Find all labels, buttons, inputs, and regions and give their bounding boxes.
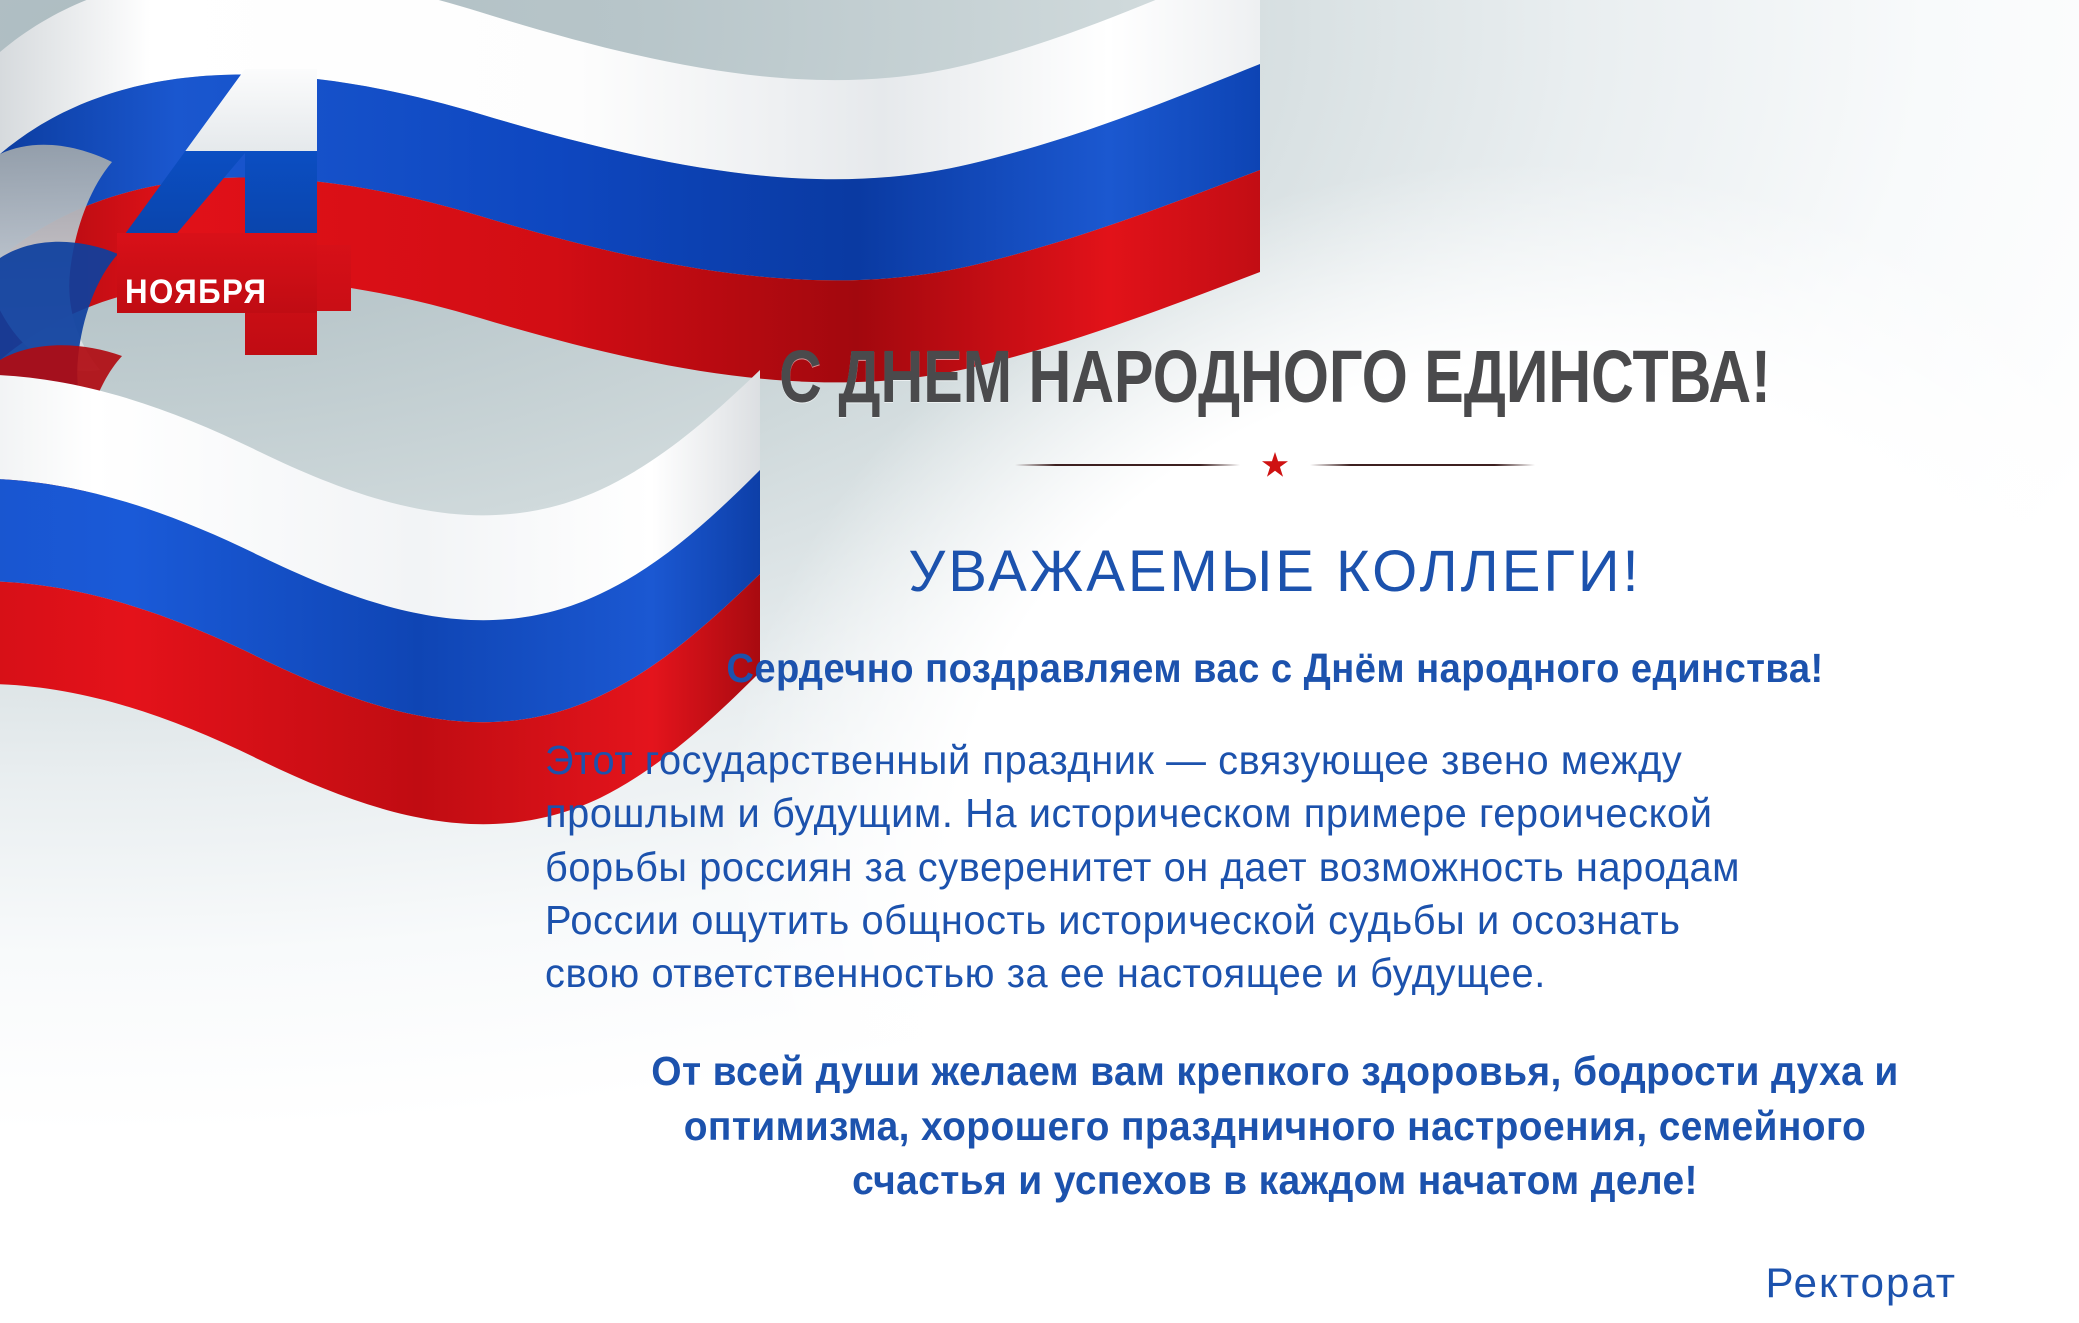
flag-stripe-white <box>95 55 365 151</box>
body-line: прошлым и будущим. На историческом приме… <box>545 787 1961 840</box>
message-block: С ДНЕМ НАРОДНОГО ЕДИНСТВА! УВАЖАЕМЫЕ КОЛ… <box>545 340 2005 1307</box>
divider-rule-right <box>1310 464 1535 466</box>
star-icon <box>1262 452 1288 478</box>
logo-month-label: НОЯБРЯ <box>125 273 267 312</box>
greeting-card: НОЯБРЯ С ДНЕМ НАРОДНОГО ЕДИНСТВА! УВАЖАЕ… <box>0 0 2079 1323</box>
date-logo: НОЯБРЯ <box>95 55 365 355</box>
body-line: борьбы россиян за суверенитет он дает во… <box>545 841 1961 894</box>
signature: Ректорат <box>545 1259 2005 1307</box>
body-line: свою ответственностью за ее настоящее и … <box>545 947 1961 1000</box>
body-line: Этот государственный праздник — связующе… <box>545 734 1961 787</box>
greeting-heading: УВАЖАЕМЫЕ КОЛЛЕГИ! <box>545 538 2005 605</box>
body-paragraph: Этот государственный праздник — связующе… <box>545 734 1961 1000</box>
body-line: России ощутить общность исторической суд… <box>545 894 1961 947</box>
wishes-line: оптимизма, хорошего праздничного настрое… <box>582 1099 1969 1153</box>
wishes-paragraph: От всей души желаем вам крепкого здоровь… <box>582 1044 1969 1206</box>
wishes-line: счастья и успехов в каждом начатом деле! <box>582 1153 1969 1207</box>
wishes-line: От всей души желаем вам крепкого здоровь… <box>582 1044 1969 1098</box>
congratulation-line: Сердечно поздравляем вас с Днём народног… <box>596 645 1954 692</box>
divider-rule-left <box>1015 464 1240 466</box>
divider <box>1015 452 1535 478</box>
page-title: С ДНЕМ НАРОДНОГО ЕДИНСТВА! <box>691 340 1859 414</box>
flag-stripe-blue <box>95 151 365 233</box>
